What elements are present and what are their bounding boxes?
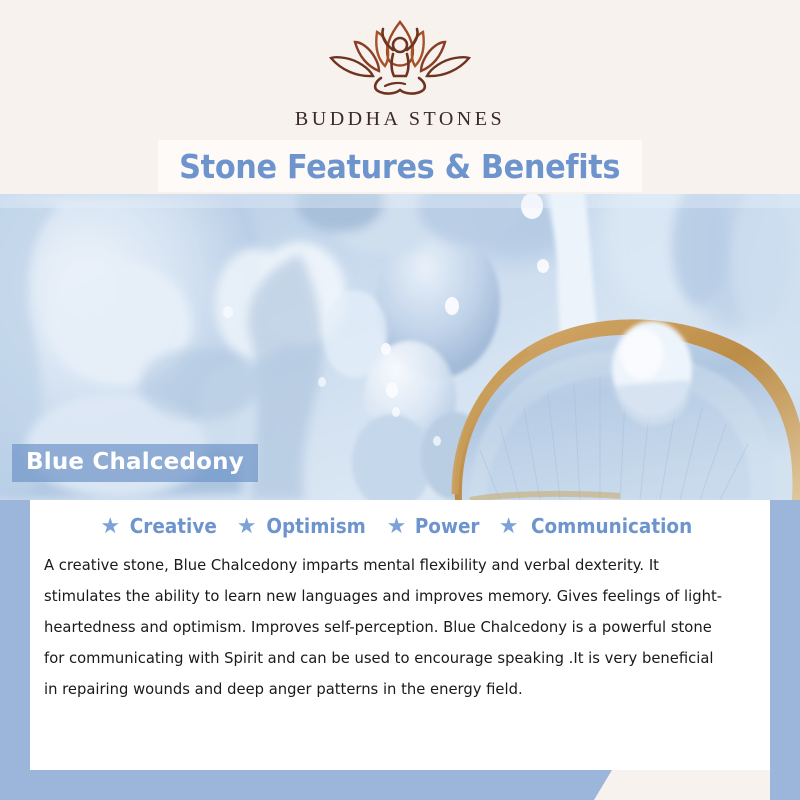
title-banner: Stone Features & Benefits [158,140,642,192]
frame-left-bar [0,498,30,800]
description-panel: ★ Creative ★ Optimism ★ Power ★ Communic… [30,500,770,770]
stone-caption-badge: Blue Chalcedony [12,444,258,482]
star-icon: ★ [499,515,519,537]
brand-name: BUDDHA STONES [295,108,505,131]
feature-item-optimism: ★ Optimism [237,514,371,538]
feature-item-power: ★ Power [387,514,483,538]
feature-label: Optimism [267,514,367,538]
feature-keywords-row: ★ Creative ★ Optimism ★ Power ★ Communic… [30,500,770,538]
description-text: A creative stone, Blue Chalcedony impart… [44,550,731,705]
feature-label: Creative [130,514,217,538]
frame-bottom-bar [0,770,612,800]
star-icon: ★ [237,515,257,537]
stone-photo: Blue Chalcedony [0,194,800,500]
page-title: Stone Features & Benefits [180,147,621,186]
feature-item-communication: ★ Communication [499,514,700,538]
lotus-meditation-icon [315,16,485,104]
feature-label: Communication [531,514,692,538]
star-icon: ★ [387,515,407,537]
feature-label: Power [415,514,480,538]
brand-logo: BUDDHA STONES [0,16,800,131]
feature-item-creative: ★ Creative [100,514,220,538]
stone-caption-text: Blue Chalcedony [26,449,244,475]
star-icon: ★ [100,515,120,537]
